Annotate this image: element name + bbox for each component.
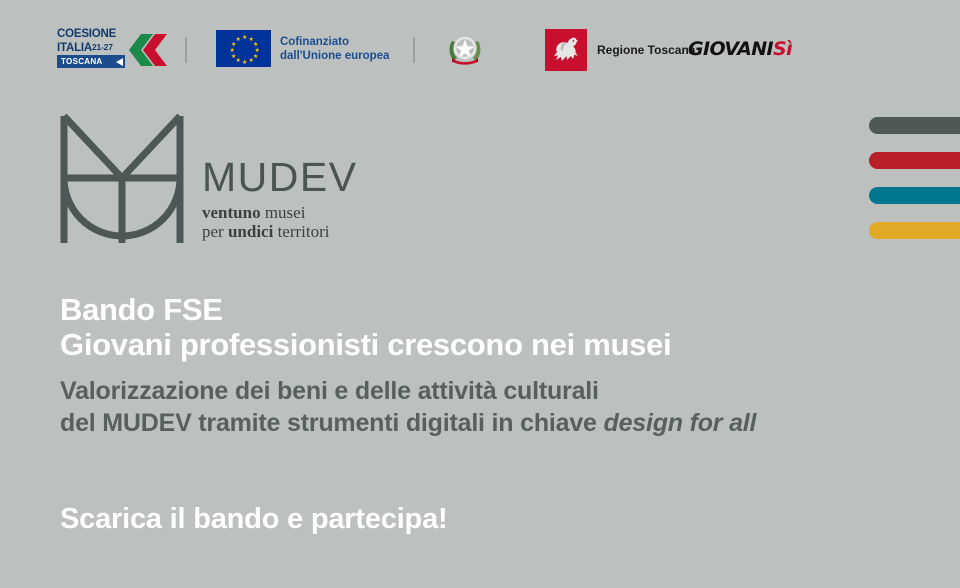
eu-label: Cofinanziato dall'Unione europea bbox=[280, 35, 389, 63]
giovanisi-text-black: GIOVANI bbox=[688, 38, 773, 60]
coesione-years: 21-27 bbox=[92, 42, 113, 52]
bar-red bbox=[869, 152, 960, 169]
repubblica-italiana-emblem-icon bbox=[444, 29, 486, 71]
mudev-tagline-line2: per undici territori bbox=[202, 222, 358, 241]
eu-label-line2: dall'Unione europea bbox=[280, 49, 389, 63]
mudev-name: MUDEV bbox=[202, 157, 358, 197]
logo-divider-2 bbox=[413, 37, 415, 63]
coesione-wordmark: COESIONE ITALIA21-27 bbox=[57, 29, 125, 54]
pegasus-icon bbox=[545, 29, 587, 71]
mudev-monogram-icon bbox=[58, 112, 186, 247]
mudev-tagline-line1: ventuno musei bbox=[202, 203, 358, 222]
logo-divider-1 bbox=[185, 37, 187, 63]
regione-toscana-label: Regione Toscana bbox=[597, 43, 695, 57]
coesione-region-label: TOSCANA bbox=[57, 57, 103, 66]
subheadline-emphasis: design for all bbox=[604, 409, 757, 437]
bar-teal bbox=[869, 187, 960, 204]
giovanisi-text-red: Sì bbox=[773, 38, 792, 60]
bar-yellow bbox=[869, 222, 960, 239]
subheadline: Valorizzazione dei beni e delle attività… bbox=[60, 375, 756, 439]
accent-bar-group bbox=[869, 117, 960, 257]
poster-canvas: { "background_color": "#bcc1c0", "header… bbox=[0, 0, 960, 588]
eu-label-line1: Cofinanziato bbox=[280, 35, 389, 49]
mudev-brand-lockup: MUDEV ventuno musei per undici territori bbox=[58, 112, 358, 247]
headline-line1: Bando FSE bbox=[60, 292, 671, 327]
giovanisi-logo: GIOVANISì bbox=[688, 38, 792, 60]
partner-logo-strip: COESIONE ITALIA21-27 TOSCANA ★ ★ ★ ★ ★ ★… bbox=[0, 0, 960, 92]
call-to-action-text: Scarica il bando e partecipa! bbox=[60, 503, 447, 536]
headline-line2: Giovani professionisti crescono nei muse… bbox=[60, 327, 671, 362]
eu-flag-icon: ★ ★ ★ ★ ★ ★ ★ ★ ★ ★ ★ ★ bbox=[216, 30, 271, 67]
coesione-italia-logo: COESIONE ITALIA21-27 TOSCANA bbox=[57, 29, 169, 69]
headline: Bando FSE Giovani professionisti crescon… bbox=[60, 292, 671, 362]
european-union-logo: ★ ★ ★ ★ ★ ★ ★ ★ ★ ★ ★ ★ Cofinanziato dal… bbox=[216, 30, 389, 67]
coesione-line1: COESIONE bbox=[57, 29, 125, 41]
regione-toscana-logo: Regione Toscana bbox=[545, 29, 695, 71]
coesione-chevron-mark bbox=[127, 30, 169, 68]
bar-charcoal bbox=[869, 117, 960, 134]
mudev-tagline: ventuno musei per undici territori bbox=[202, 203, 358, 241]
mudev-wordmark: MUDEV ventuno musei per undici territori bbox=[202, 157, 358, 247]
subheadline-line2: del MUDEV tramite strumenti digitali in … bbox=[60, 407, 756, 439]
triangle-icon bbox=[112, 58, 123, 66]
coesione-region-band: TOSCANA bbox=[57, 55, 125, 68]
coesione-line2: ITALIA21-27 bbox=[57, 41, 125, 55]
subheadline-line1: Valorizzazione dei beni e delle attività… bbox=[60, 375, 756, 407]
